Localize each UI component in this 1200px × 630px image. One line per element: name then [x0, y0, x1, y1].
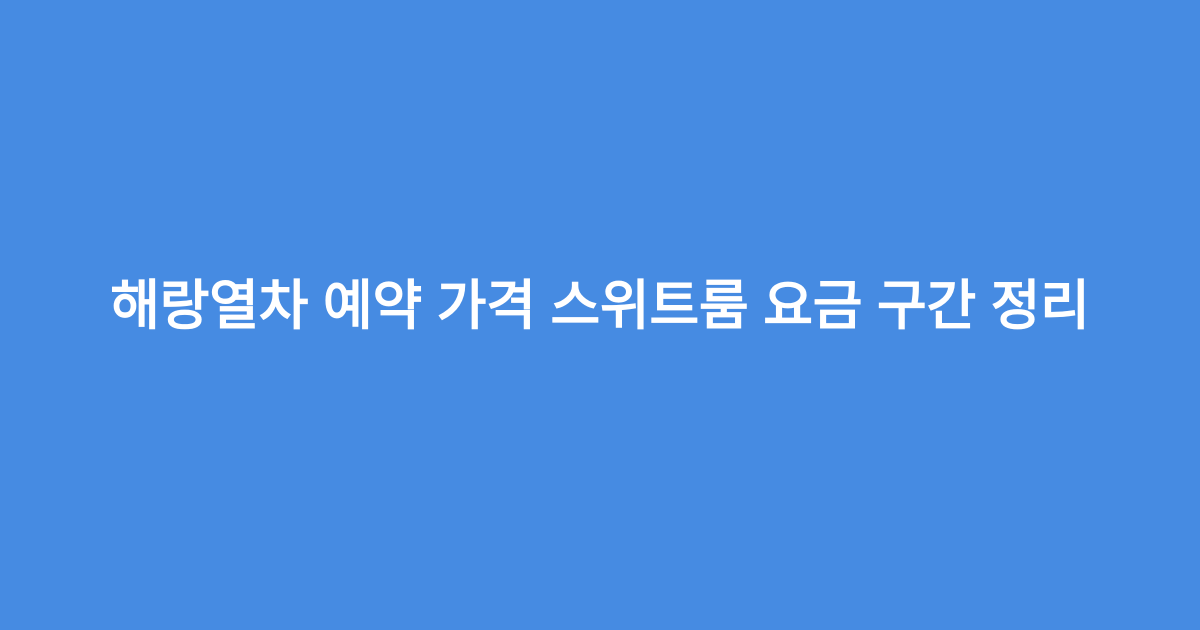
page-title: 해랑열차 예약 가격 스위트룸 요금 구간 정리 [110, 275, 1089, 339]
thumbnail-card: 해랑열차 예약 가격 스위트룸 요금 구간 정리 [0, 0, 1200, 630]
title-container: 해랑열차 예약 가격 스위트룸 요금 구간 정리 [50, 275, 1150, 339]
